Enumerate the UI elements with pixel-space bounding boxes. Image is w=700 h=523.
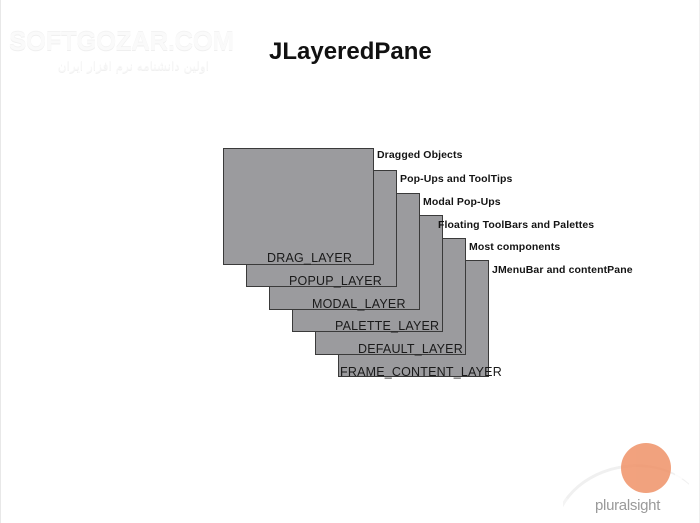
layer-label-default-layer: DEFAULT_LAYER [358,342,463,356]
layer-box-drag-layer [223,148,374,265]
layer-label-popup-layer: POPUP_LAYER [289,274,382,288]
layer-description-default-layer: Most components [469,241,560,253]
logo-wordmark: pluralsight [595,497,660,514]
layer-description-drag-layer: Dragged Objects [377,149,463,161]
slide-canvas: SOFTGOZAR.COM اولین دانشنامه نرم افزار ا… [0,0,700,523]
layer-description-popup-layer: Pop-Ups and ToolTips [400,173,512,185]
layer-description-frame-content-layer: JMenuBar and contentPane [492,264,633,276]
layer-label-frame-content-layer: FRAME_CONTENT_LAYER [340,365,502,379]
play-triangle-icon [675,457,697,483]
play-button-circle [621,443,671,493]
pluralsight-logo: pluralsight [587,441,691,521]
layer-description-modal-layer: Modal Pop-Ups [423,196,501,208]
layer-label-drag-layer: DRAG_LAYER [267,251,352,265]
layer-label-modal-layer: MODAL_LAYER [312,297,406,311]
layer-description-palette-layer: Floating ToolBars and Palettes [438,219,594,231]
layer-label-palette-layer: PALETTE_LAYER [335,319,439,333]
